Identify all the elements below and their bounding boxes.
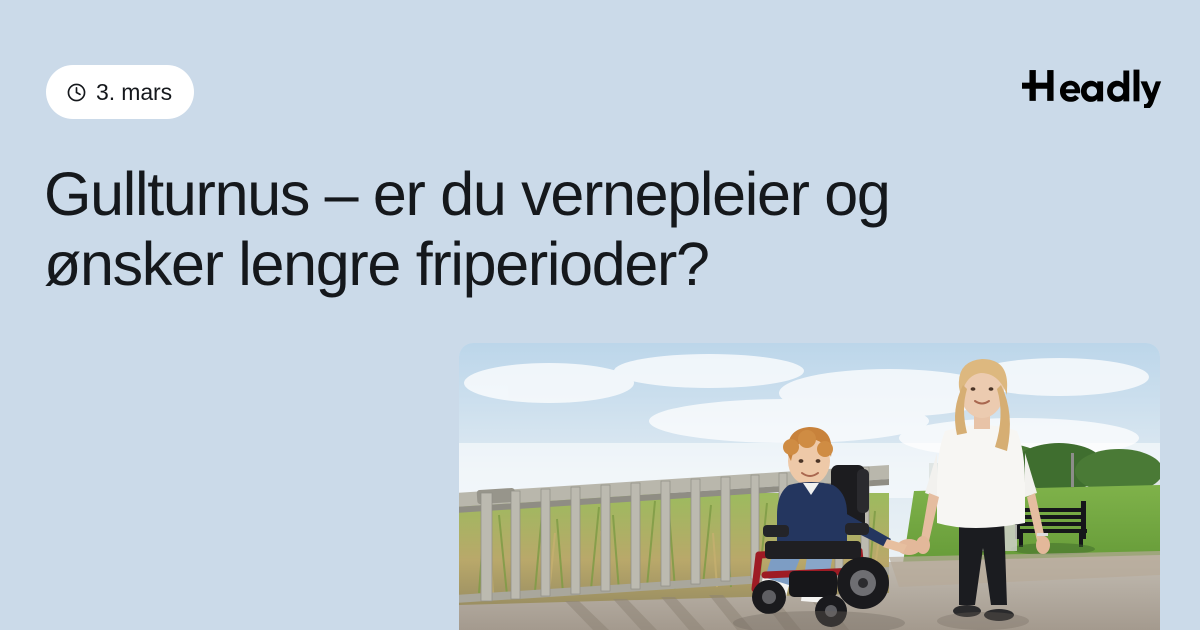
date-badge: 3. mars xyxy=(46,65,194,119)
og-card: 3. mars Gullturnus – er du vern xyxy=(0,0,1200,630)
date-label: 3. mars xyxy=(96,81,172,104)
clock-icon xyxy=(66,82,87,103)
hero-image xyxy=(459,343,1160,630)
page-title: Gullturnus – er du vernepleier og ønsker… xyxy=(44,160,1074,299)
headly-logo[interactable] xyxy=(1022,62,1162,108)
